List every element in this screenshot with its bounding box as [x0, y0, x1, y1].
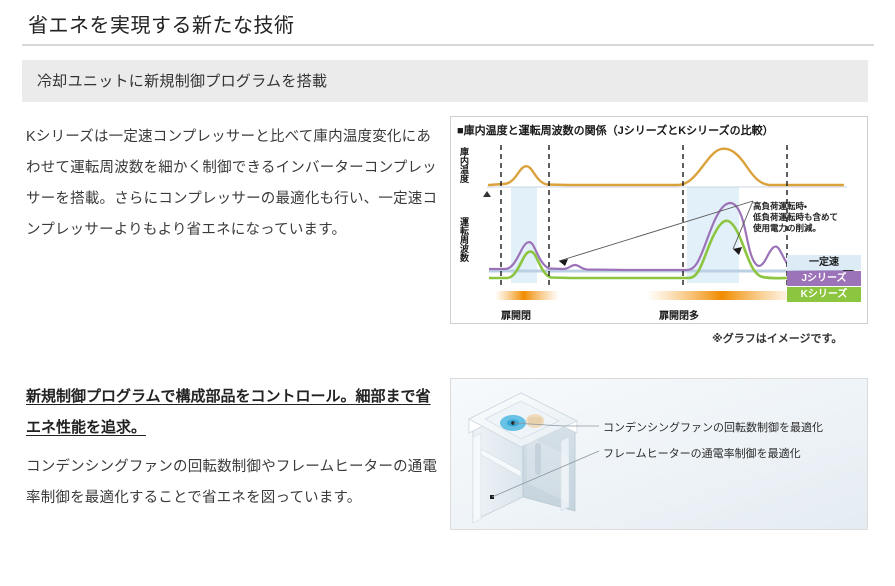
- chart-disclaimer-note: ※グラフはイメージです。: [712, 330, 842, 346]
- axis-label-temperature: 庫内温度: [459, 147, 469, 183]
- shaded-band-door-1: [511, 187, 537, 283]
- compressor-body: [528, 417, 542, 424]
- door-event-bar-2: [647, 291, 797, 300]
- lead-heading: 新規制御プログラムで構成部品をコントロール。細部まで省エネ性能を追求。: [26, 381, 444, 443]
- legend-item-j-series: Jシリーズ: [787, 271, 861, 286]
- callout-condensing-fan: コンデンシングファンの回転数制御を最適化: [603, 419, 823, 435]
- page-title: 省エネを実現する新たな技術: [28, 12, 295, 40]
- series-line-temperature: [489, 149, 843, 185]
- axis-label-frequency: 運転周波数: [459, 217, 469, 262]
- legend-item-constant-speed: 一定速: [787, 255, 861, 270]
- chart-annotation: 高負荷運転時・ 低負荷運転時も含めて 使用電力の削減。: [753, 201, 838, 234]
- intro-paragraph: Kシリーズは一定速コンプレッサーと比べて庫内温度変化にあわせて運転周波数を細かく…: [26, 122, 438, 246]
- door-event-bar-1: [495, 291, 559, 300]
- annotation-arrow-1: [559, 259, 568, 266]
- illustration-panel: コンデンシングファンの回転数制御を最適化 フレームヒーターの通電率制御を最適化: [450, 378, 868, 530]
- chart-panel: ■庫内温度と運転周波数の関係（JシリーズとKシリーズの比較） 庫内温度 運転周波…: [450, 116, 868, 324]
- axis-arrow-temperature: [483, 191, 491, 197]
- frame-post-left: [473, 433, 481, 523]
- zone-label-door-open-frequent: 扉開閉多: [659, 307, 699, 322]
- chart-canvas: 庫内温度 運転周波数: [451, 139, 867, 323]
- subheader-title: 冷却ユニットに新規制御プログラムを搭載: [37, 72, 327, 92]
- chart-legend: 一定速 Jシリーズ Kシリーズ: [787, 255, 861, 303]
- callout-frame-heater: フレームヒーターの通電率制御を最適化: [603, 445, 801, 461]
- title-divider: [22, 44, 874, 46]
- chart-title: ■庫内温度と運転周波数の関係（JシリーズとKシリーズの比較）: [457, 122, 774, 138]
- detail-paragraph: コンデンシングファンの回転数制御やフレームヒーターの通電率制御を最適化することで…: [26, 452, 440, 514]
- legend-item-k-series: Kシリーズ: [787, 287, 861, 302]
- zone-label-door-open: 扉開閉: [501, 307, 531, 322]
